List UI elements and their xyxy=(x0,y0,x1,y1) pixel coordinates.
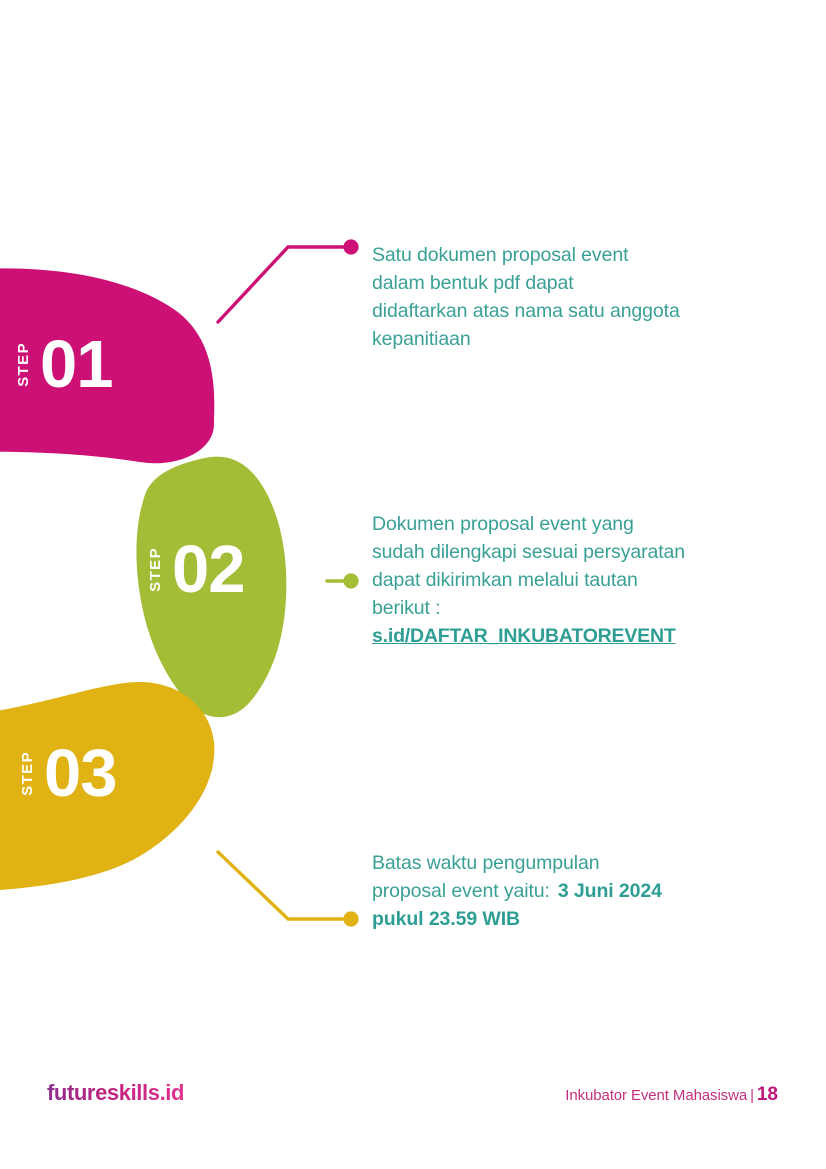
step-description-line: Dokumen proposal event yang xyxy=(372,511,772,539)
step-01-shape[interactable] xyxy=(0,268,214,463)
step-description-line: proposal event yaitu: xyxy=(372,880,550,902)
step-description-03: Batas waktu pengumpulan proposal event y… xyxy=(372,850,772,934)
brand-logo[interactable]: futureskills.id xyxy=(47,1080,184,1106)
page-footer: futureskills.id Inkubator Event Mahasisw… xyxy=(0,1080,826,1126)
registration-link[interactable]: s.id/DAFTAR_INKUBATOREVENT xyxy=(372,623,772,651)
connector-dot-step-03 xyxy=(343,911,358,926)
step-description-line: dalam bentuk pdf dapat xyxy=(372,270,772,298)
connector-dot-step-02 xyxy=(343,573,358,588)
connector-step-01 xyxy=(218,239,359,322)
step-description-line: Satu dokumen proposal event xyxy=(372,242,772,270)
deadline-time: pukul 23.59 WIB xyxy=(372,906,772,934)
connector-line-step-03 xyxy=(218,852,345,919)
connector-line-step-01 xyxy=(218,247,345,322)
deadline-date: 3 Juni 2024 xyxy=(558,880,662,902)
step-description-01: Satu dokumen proposal event dalam bentuk… xyxy=(372,242,772,354)
connector-dot-step-01 xyxy=(343,239,358,254)
slide-page: STEP 01 STEP 02 STEP 03 Satu dokumen pro… xyxy=(0,0,826,1169)
footer-doc-info: Inkubator Event Mahasiswa|18 xyxy=(565,1084,778,1106)
step-description-line: dapat dikirimkan melalui tautan xyxy=(372,567,772,595)
connector-step-03 xyxy=(218,852,359,927)
step-description-line-with-date: proposal event yaitu:3 Juni 2024 xyxy=(372,878,772,906)
step-description-line: didaftarkan atas nama satu anggota xyxy=(372,298,772,326)
step-description-02: Dokumen proposal event yang sudah dileng… xyxy=(372,511,772,650)
step-03-shape[interactable] xyxy=(0,682,214,892)
step-description-line: sudah dilengkapi sesuai persyaratan xyxy=(372,539,772,567)
footer-doc-title: Inkubator Event Mahasiswa xyxy=(565,1087,747,1104)
page-number: 18 xyxy=(757,1084,778,1105)
step-description-line: kepanitiaan xyxy=(372,326,772,354)
footer-separator: | xyxy=(750,1087,754,1104)
step-description-line: berikut : xyxy=(372,595,772,623)
connector-step-02 xyxy=(327,573,359,588)
step-description-line: Batas waktu pengumpulan xyxy=(372,850,772,878)
step-02-shape[interactable] xyxy=(136,457,286,718)
